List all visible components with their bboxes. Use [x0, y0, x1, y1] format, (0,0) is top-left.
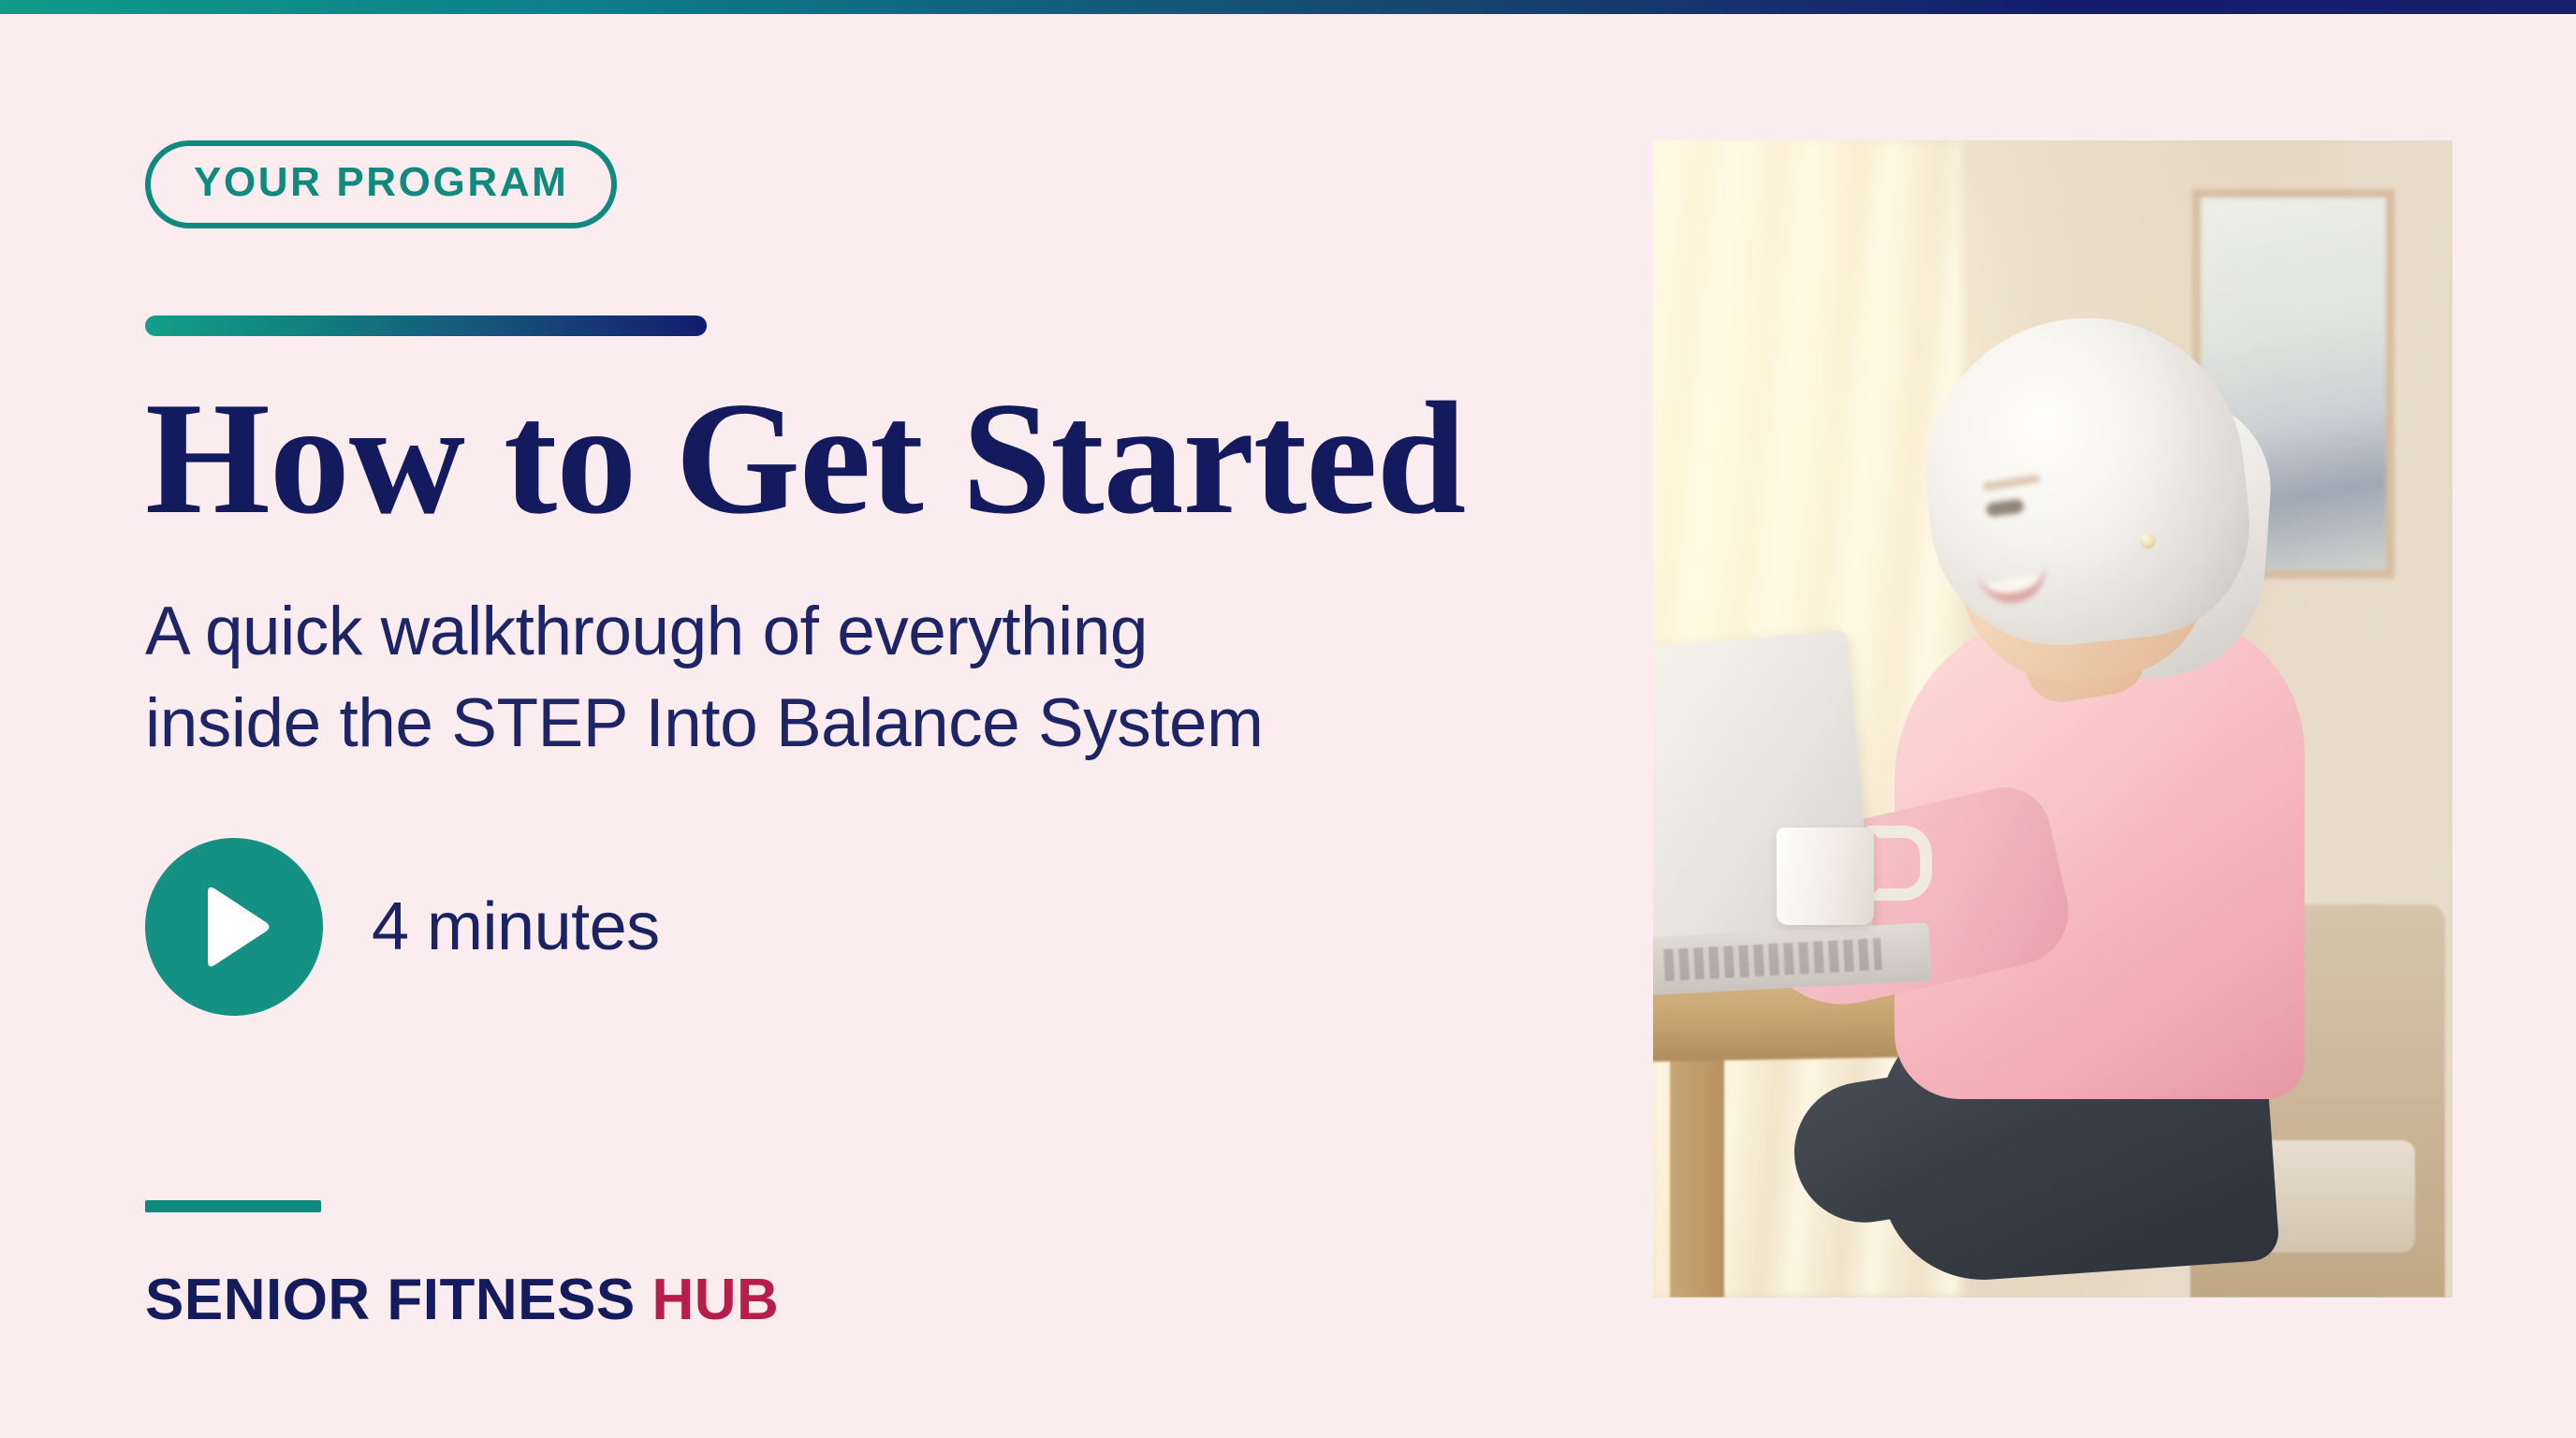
photo-earring	[2140, 533, 2156, 549]
play-triangle-icon	[195, 883, 273, 971]
photo-mug-handle	[1866, 826, 1932, 901]
page-title: How to Get Started	[145, 336, 1605, 541]
page-subtitle: A quick walkthrough of everything inside…	[145, 541, 1605, 768]
brand-lockup: SENIOR FITNESS HUB	[145, 1200, 779, 1333]
subtitle-line-2: inside the STEP Into Balance System	[145, 678, 1605, 769]
brand-name-primary: SENIOR FITNESS	[145, 1268, 636, 1332]
brand-name-accent: HUB	[651, 1268, 779, 1332]
program-badge-label: YOUR PROGRAM	[194, 162, 568, 203]
photo-table-leg	[1670, 1043, 1724, 1298]
video-duration-row: 4 minutes	[145, 769, 1605, 1016]
hero-photo	[1653, 140, 2452, 1298]
photo-mug	[1777, 828, 1874, 925]
gradient-accent-bar	[145, 315, 707, 336]
slide-canvas: YOUR PROGRAM How to Get Started A quick …	[0, 0, 2576, 1438]
subtitle-line-1: A quick walkthrough of everything	[145, 586, 1605, 677]
duration-label: 4 minutes	[372, 888, 660, 965]
brand-rule	[145, 1200, 321, 1212]
play-button[interactable]	[145, 838, 323, 1016]
top-accent-strip	[0, 0, 2576, 14]
program-badge: YOUR PROGRAM	[145, 140, 617, 228]
content-column: YOUR PROGRAM How to Get Started A quick …	[145, 140, 1605, 1016]
brand-name: SENIOR FITNESS HUB	[145, 1267, 779, 1333]
